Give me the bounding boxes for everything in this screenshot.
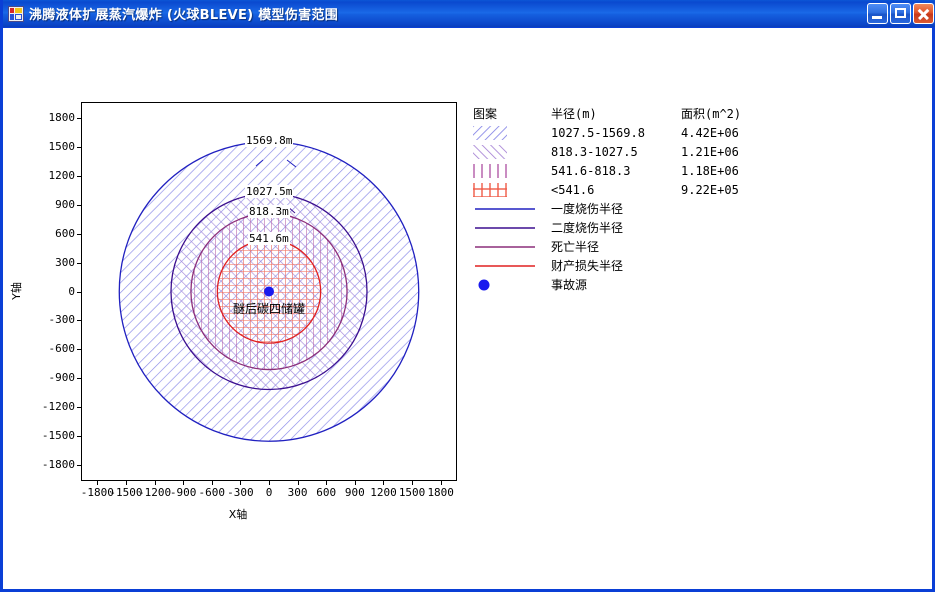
y-tick-mark (77, 349, 81, 350)
x-tick-mark (441, 481, 442, 485)
chart-legend: 图案 半径(m) 面积(m^2) 1027.5-1569.8 4.42E+06 (473, 104, 913, 294)
y-tick-label: 1500 (23, 140, 75, 153)
x-tick-mark (326, 481, 327, 485)
y-tick-label: 1200 (23, 169, 75, 182)
hatch-back-slash-purple-icon (473, 142, 551, 161)
legend-header-row: 图案 半径(m) 面积(m^2) (473, 104, 771, 123)
accident-source-point (264, 287, 274, 297)
x-tick-mark (412, 481, 413, 485)
hatch-cross-red-icon (473, 180, 551, 199)
x-tick-mark (212, 481, 213, 485)
plot-canvas (82, 103, 456, 480)
accident-source-label: 醚后碳四储罐 (233, 300, 305, 317)
y-axis-title: Y轴 (8, 276, 24, 306)
line-blue-icon (473, 199, 551, 218)
y-tick-mark (77, 407, 81, 408)
hatch-vertical-magenta-icon (473, 161, 551, 180)
legend-line-label: 一度烧伤半径 (551, 199, 771, 218)
window-controls (867, 3, 934, 24)
y-tick-label: -1800 (23, 458, 75, 471)
hatch-forward-slash-blue-icon (473, 123, 551, 142)
legend-point-row: 事故源 (473, 275, 771, 294)
legend-band-row: 541.6-818.3 1.18E+06 (473, 161, 771, 180)
x-tick-label: 1800 (419, 486, 463, 499)
y-tick-label: -600 (23, 342, 75, 355)
legend-line-label: 二度烧伤半径 (551, 218, 771, 237)
y-tick-mark (77, 378, 81, 379)
y-tick-mark (77, 205, 81, 206)
app-window-icon (8, 6, 24, 22)
legend-band-row: <541.6 9.22E+05 (473, 180, 771, 199)
y-tick-label: 600 (23, 227, 75, 240)
legend-band-row: 818.3-1027.5 1.21E+06 (473, 142, 771, 161)
window-title: 沸腾液体扩展蒸汽爆炸 (火球BLEVE) 模型伤害范围 (29, 4, 338, 23)
legend-band-area: 1.18E+06 (681, 161, 771, 180)
damage-range-chart: 1569.8m 1027.5m 818.3m 541.6m 醚后碳四储罐 Y轴 … (3, 28, 473, 528)
maximize-button[interactable] (890, 3, 911, 24)
x-tick-mark (155, 481, 156, 485)
close-button[interactable] (913, 3, 934, 24)
line-red-icon (473, 256, 551, 275)
y-tick-mark (77, 176, 81, 177)
legend-line-row: 一度烧伤半径 (473, 199, 771, 218)
x-tick-mark (97, 481, 98, 485)
x-tick-mark (126, 481, 127, 485)
annotation-radius-1: 1569.8m (245, 134, 293, 147)
y-tick-label: 0 (23, 285, 75, 298)
y-tick-mark (77, 263, 81, 264)
legend-table: 图案 半径(m) 面积(m^2) 1027.5-1569.8 4.42E+06 (473, 104, 771, 294)
x-tick-mark (183, 481, 184, 485)
legend-band-range: 1027.5-1569.8 (551, 123, 681, 142)
y-tick-mark (77, 465, 81, 466)
legend-point-label: 事故源 (551, 275, 771, 294)
x-tick-mark (240, 481, 241, 485)
x-tick-mark (269, 481, 270, 485)
legend-band-area: 9.22E+05 (681, 180, 771, 199)
x-tick-mark (298, 481, 299, 485)
legend-header-area: 面积(m^2) (681, 104, 771, 123)
annotation-radius-2: 1027.5m (245, 185, 293, 198)
dot-blue-icon (473, 275, 551, 294)
legend-band-row: 1027.5-1569.8 4.42E+06 (473, 123, 771, 142)
legend-line-row: 死亡半径 (473, 237, 771, 256)
y-tick-mark (77, 147, 81, 148)
x-tick-mark (383, 481, 384, 485)
client-area: 1569.8m 1027.5m 818.3m 541.6m 醚后碳四储罐 Y轴 … (3, 28, 932, 589)
y-tick-label: 300 (23, 256, 75, 269)
legend-line-row: 财产损失半径 (473, 256, 771, 275)
legend-band-range: 541.6-818.3 (551, 161, 681, 180)
minimize-button[interactable] (867, 3, 888, 24)
y-tick-mark (77, 234, 81, 235)
y-tick-label: -900 (23, 371, 75, 384)
y-tick-label: 1800 (23, 111, 75, 124)
x-tick-mark (355, 481, 356, 485)
legend-line-label: 财产损失半径 (551, 256, 771, 275)
x-axis-title: X轴 (3, 506, 473, 522)
y-tick-mark (77, 320, 81, 321)
legend-band-area: 1.21E+06 (681, 142, 771, 161)
legend-line-row: 二度烧伤半径 (473, 218, 771, 237)
line-indigo-icon (473, 218, 551, 237)
annotation-radius-3: 818.3m (248, 205, 290, 218)
legend-header-radius: 半径(m) (551, 104, 681, 123)
application-window: 沸腾液体扩展蒸汽爆炸 (火球BLEVE) 模型伤害范围 (0, 0, 935, 592)
legend-header-pattern: 图案 (473, 104, 551, 123)
y-tick-label: -1500 (23, 429, 75, 442)
legend-band-range: 818.3-1027.5 (551, 142, 681, 161)
y-tick-mark (77, 118, 81, 119)
legend-line-label: 死亡半径 (551, 237, 771, 256)
annotation-radius-4: 541.6m (248, 232, 290, 245)
y-tick-label: -300 (23, 313, 75, 326)
legend-band-area: 4.42E+06 (681, 123, 771, 142)
y-tick-label: -1200 (23, 400, 75, 413)
y-tick-mark (77, 436, 81, 437)
y-tick-label: 900 (23, 198, 75, 211)
legend-band-range: <541.6 (551, 180, 681, 199)
line-magenta-icon (473, 237, 551, 256)
title-bar[interactable]: 沸腾液体扩展蒸汽爆炸 (火球BLEVE) 模型伤害范围 (3, 0, 935, 28)
y-tick-mark (77, 292, 81, 293)
plot-frame: 1569.8m 1027.5m 818.3m 541.6m 醚后碳四储罐 (81, 102, 457, 481)
